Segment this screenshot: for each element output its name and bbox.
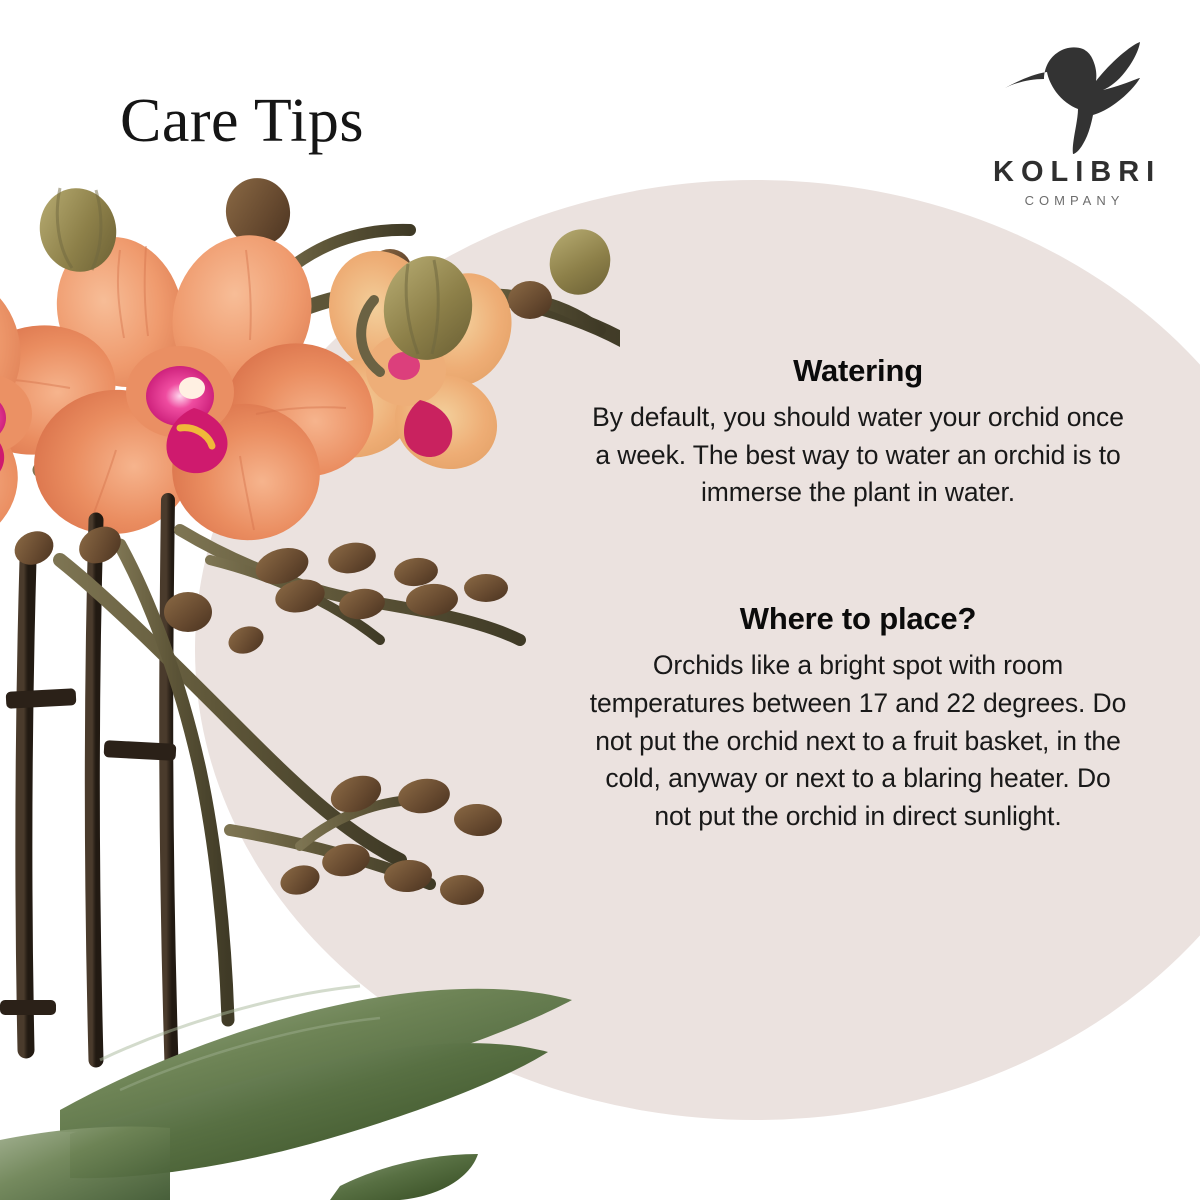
hummingbird-icon — [1003, 26, 1141, 154]
brand-tagline: COMPANY — [986, 194, 1158, 207]
section-body-where-to-place: Orchids like a bright spot with room tem… — [588, 647, 1128, 835]
section-watering: Watering By default, you should water yo… — [588, 352, 1128, 512]
page-title: Care Tips — [120, 86, 364, 157]
brand-name: KOLIBRI — [986, 158, 1158, 187]
section-body-watering: By default, you should water your orchid… — [588, 399, 1128, 512]
section-heading-where-to-place: Where to place? — [588, 600, 1128, 637]
section-heading-watering: Watering — [588, 352, 1128, 389]
brand-logo: KOLIBRI COMPANY — [986, 26, 1158, 207]
care-tips-text-column: Watering By default, you should water yo… — [588, 352, 1128, 835]
section-spacer — [588, 512, 1128, 600]
care-tips-card: Care Tips KOLIBRI COMPANY — [0, 0, 1200, 1200]
section-where-to-place: Where to place? Orchids like a bright sp… — [588, 600, 1128, 835]
